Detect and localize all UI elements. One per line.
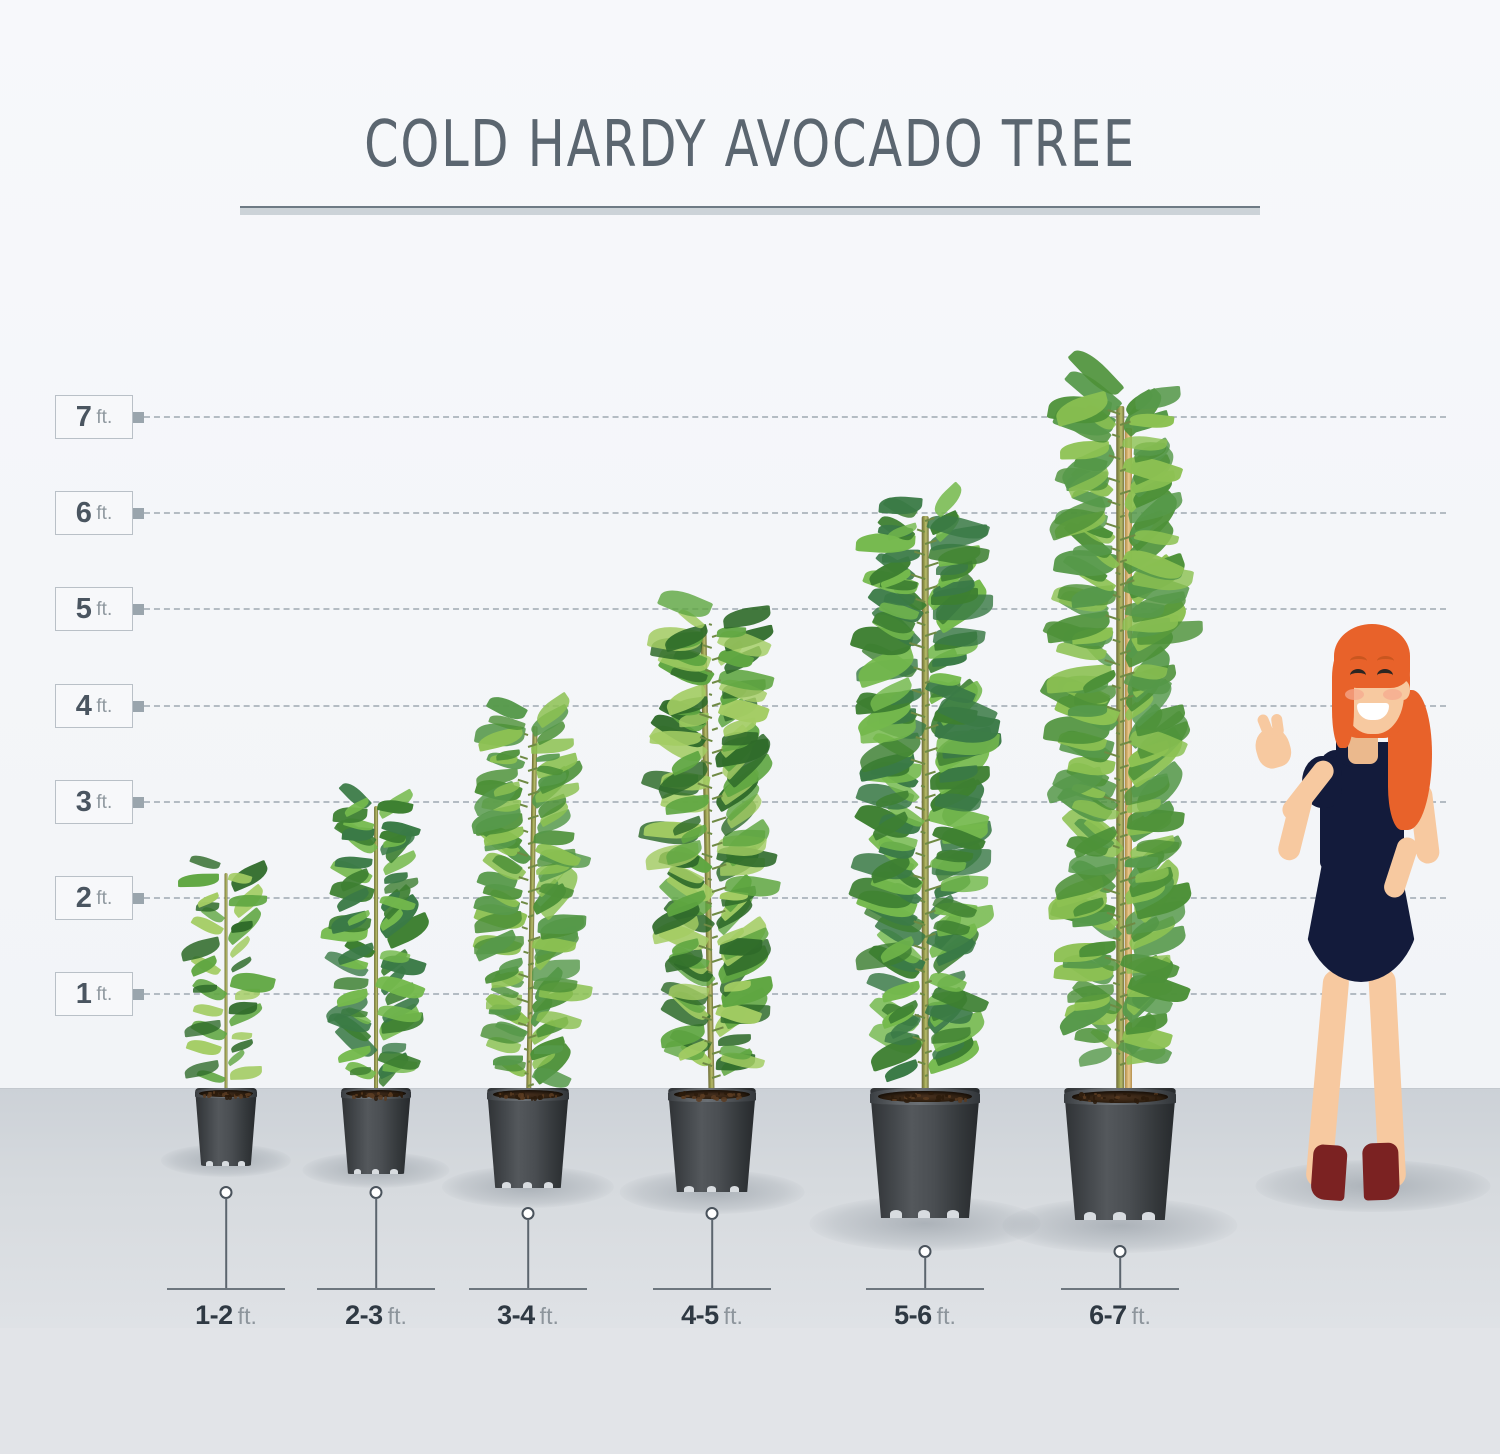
plant-leaf (337, 1045, 372, 1063)
plant-branch (709, 809, 712, 811)
specimen-6-7ft (980, 408, 1260, 1220)
callout-label: 6-7ft. (1089, 1302, 1151, 1329)
pot-drain-notch (1113, 1212, 1125, 1220)
callout-leader-line (375, 1198, 377, 1288)
pot-body (1064, 1088, 1176, 1220)
pot-drain-notch (502, 1182, 511, 1188)
potting-soil (1072, 1091, 1168, 1103)
hair-side-strand (1332, 652, 1354, 748)
callout-leader-line (527, 1219, 529, 1288)
plant-branch (709, 693, 712, 695)
background-bottom-band (0, 1328, 1500, 1454)
pot-drain-notch (222, 1161, 229, 1166)
plant-branch (520, 804, 528, 808)
callout-leader-line (924, 1257, 926, 1288)
plant-branch (712, 982, 718, 985)
plant-leaf (534, 1045, 563, 1054)
nursery-pot (487, 1088, 569, 1188)
potting-soil (493, 1090, 564, 1099)
pot-body (668, 1088, 756, 1192)
cheek-right (1383, 689, 1402, 700)
plant-branch (524, 1048, 528, 1051)
callout-label: 2-3ft. (345, 1302, 407, 1329)
y-axis-tick-nub (133, 604, 144, 615)
y-axis-tick-unit: ft. (96, 408, 112, 427)
callout-leader-line (225, 1198, 227, 1288)
plant-branch (520, 755, 528, 759)
y-axis-tick-7ft: 7ft. (0, 395, 1500, 439)
callout-range-value: 4-5 (681, 1300, 719, 1330)
eye-right (1377, 669, 1393, 682)
pot-drain-notch (372, 1169, 380, 1174)
plant-branch (925, 703, 930, 706)
plant-branch (524, 732, 528, 735)
y-axis-tick-value: 4 (76, 692, 92, 721)
y-axis-tick-nub (133, 797, 144, 808)
plant-branch (712, 634, 717, 637)
plant-branch (712, 727, 718, 730)
plant-branch (522, 926, 528, 929)
pot-drain-notch (1142, 1212, 1154, 1220)
plant-leaf (178, 874, 219, 887)
callout-range-value: 6-7 (1089, 1300, 1127, 1330)
pot-drain-notch (1084, 1212, 1096, 1220)
plant-leaf (718, 1034, 751, 1046)
plant-branch (523, 950, 528, 953)
pot-drain-notch (354, 1169, 362, 1174)
callout-range-unit: ft. (724, 1303, 743, 1329)
y-axis-tick-value: 7 (76, 403, 92, 432)
title-divider-shadow (240, 208, 1260, 215)
callout-range-value: 5-6 (894, 1300, 932, 1330)
pot-drain-notch (206, 1161, 213, 1166)
woman-scale-figure (1250, 580, 1495, 1200)
nursery-pot (1064, 1088, 1176, 1220)
plant-branch (712, 957, 723, 962)
callout-range-unit: ft. (388, 1303, 407, 1329)
callout-base-line (317, 1288, 435, 1290)
y-axis-tick-value: 6 (76, 499, 92, 528)
plant-stem (922, 516, 929, 1137)
pot-drain-notch (890, 1210, 902, 1218)
callout-leader-line (1119, 1257, 1121, 1288)
plant-branch (709, 623, 712, 625)
y-axis-tick-nub (133, 412, 144, 423)
pot-drain-notch (730, 1186, 740, 1192)
y-axis-tick-box: 5ft. (55, 587, 133, 631)
callout-base-line (866, 1288, 984, 1290)
pot-drain-notch (523, 1182, 532, 1188)
callout-range-value: 3-4 (497, 1300, 535, 1330)
y-axis-tick-box: 4ft. (55, 684, 133, 728)
y-axis-tick-nub (133, 701, 144, 712)
callout-base-line (167, 1288, 285, 1290)
avocado-plant (1020, 399, 1220, 1138)
callout-range-unit: ft. (540, 1303, 559, 1329)
eye-left (1350, 669, 1366, 682)
y-axis-tick-unit: ft. (96, 793, 112, 812)
pot-body (870, 1088, 980, 1218)
y-axis-tick-nub (133, 508, 144, 519)
callout-label: 3-4ft. (497, 1302, 559, 1329)
potting-soil (674, 1090, 750, 1099)
boot-left (1310, 1144, 1348, 1201)
y-axis-tick-6ft: 6ft. (0, 491, 1500, 535)
callout-leader-line (711, 1219, 713, 1288)
callout-range-unit: ft. (1132, 1303, 1151, 1329)
potting-soil (878, 1091, 973, 1103)
plant-branch (712, 936, 718, 939)
plant-leaf (717, 626, 747, 638)
y-axis-tick-unit: ft. (96, 504, 112, 523)
nursery-pot (668, 1088, 756, 1192)
boot-right (1362, 1142, 1400, 1200)
pot-drain-notch (707, 1186, 717, 1192)
y-axis-tick-box: 3ft. (55, 780, 133, 824)
cheek-left (1345, 689, 1364, 700)
callout-range-value: 2-3 (345, 1300, 383, 1330)
y-axis-tick-unit: ft. (96, 697, 112, 716)
eyebrow-left (1350, 656, 1367, 666)
callout-label: 4-5ft. (681, 1302, 743, 1329)
nursery-pot (870, 1088, 980, 1218)
y-axis-tick-box: 7ft. (55, 395, 133, 439)
callout-range-unit: ft. (238, 1303, 257, 1329)
plant-leaf (1078, 1046, 1114, 1067)
callout-label: 1-2ft. (195, 1302, 257, 1329)
callout-range-unit: ft. (937, 1303, 956, 1329)
page-title: COLD HARDY AVOCADO TREE (105, 108, 1395, 182)
callout-base-line (469, 1288, 587, 1290)
size-chart-infographic: COLD HARDY AVOCADO TREE 7ft.6ft.5ft.4ft.… (0, 0, 1500, 1454)
eyebrow-right (1377, 656, 1394, 666)
y-axis-tick-unit: ft. (96, 600, 112, 619)
plant-branch (712, 772, 723, 777)
y-axis-tick-value: 5 (76, 595, 92, 624)
y-axis-tick-box: 6ft. (55, 491, 133, 535)
pot-drain-notch (684, 1186, 694, 1192)
plant-branch (521, 901, 528, 905)
y-axis-tick-value: 3 (76, 788, 92, 817)
pot-drain-notch (544, 1182, 553, 1188)
pot-drain-notch (947, 1210, 959, 1218)
finger-middle (1271, 713, 1285, 736)
pot-drain-notch (918, 1210, 930, 1218)
callout-range-value: 1-2 (195, 1300, 233, 1330)
avocado-plant (628, 620, 796, 1128)
callout-label: 5-6ft. (894, 1302, 956, 1329)
callout-base-line (653, 1288, 771, 1290)
callout-base-line (1061, 1288, 1179, 1290)
pot-body (487, 1088, 569, 1188)
plant-leaf (193, 1001, 224, 1020)
